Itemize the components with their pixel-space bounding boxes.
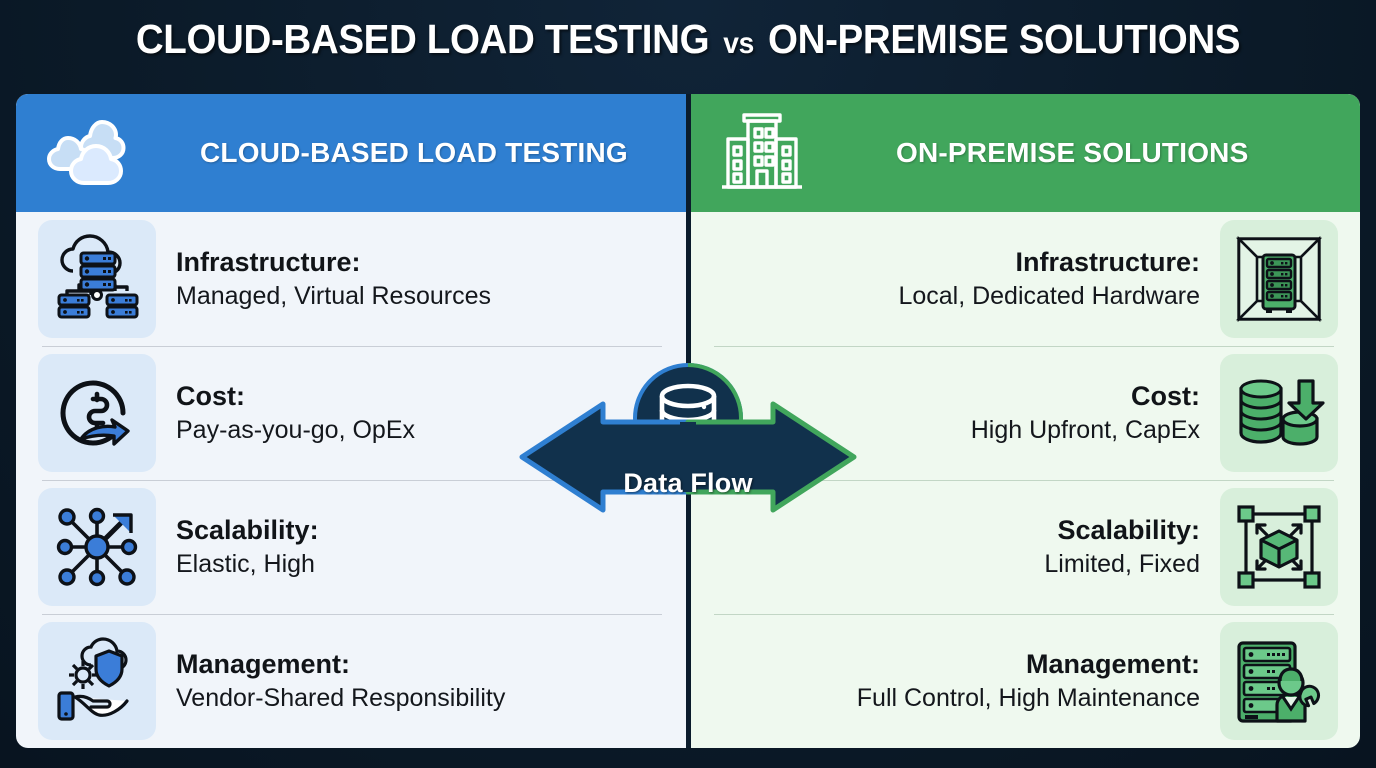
infographic-canvas: CLOUD-BASED LOAD TESTING vs ON-PREMISE S… — [0, 0, 1376, 768]
row-text: Cost: Pay-as-you-go, OpEx — [176, 381, 666, 445]
onprem-panel-title: ON-PREMISE SOLUTIONS — [896, 137, 1248, 169]
row-text: Scalability: Elastic, High — [176, 515, 666, 579]
dollar-circle-arrow-icon — [38, 354, 156, 472]
row-label: Scalability: — [176, 515, 666, 547]
cloud-panel-title: CLOUD-BASED LOAD TESTING — [200, 137, 628, 169]
office-building-icon — [718, 109, 806, 198]
table-row: Scalability: Elastic, High — [30, 480, 674, 614]
row-label: Cost: — [710, 381, 1200, 413]
table-row: Infrastructure: Managed, Virtual Resourc… — [30, 212, 674, 346]
row-value: High Upfront, CapEx — [710, 415, 1200, 445]
cloud-servers-network-icon — [38, 220, 156, 338]
row-value: Limited, Fixed — [710, 549, 1200, 579]
table-row: Cost: High Upfront, CapEx — [702, 346, 1346, 480]
row-label: Cost: — [176, 381, 666, 413]
coin-stack-down-arrow-icon — [1220, 354, 1338, 472]
title-vs: vs — [720, 27, 758, 60]
row-label: Management: — [710, 649, 1200, 681]
onprem-panel-header: ON-PREMISE SOLUTIONS — [688, 94, 1360, 212]
row-text: Management: Vendor-Shared Responsibility — [176, 649, 666, 713]
table-row: Infrastructure: Local, Dedicated Hardwar… — [702, 212, 1346, 346]
cloud-based-panel: CLOUD-BASED LOAD TESTING — [16, 94, 688, 748]
row-label: Scalability: — [710, 515, 1200, 547]
row-label: Management: — [176, 649, 666, 681]
boxed-cube-constraint-icon — [1220, 488, 1338, 606]
panel-divider — [686, 94, 691, 748]
row-text: Management: Full Control, High Maintenan… — [710, 649, 1200, 713]
title-part-one: CLOUD-BASED LOAD TESTING — [136, 16, 709, 62]
table-row: Scalability: Limited, Fixed — [702, 480, 1346, 614]
row-value: Full Control, High Maintenance — [710, 683, 1200, 713]
technician-server-wrench-icon — [1220, 622, 1338, 740]
network-hub-growth-icon — [38, 488, 156, 606]
on-premise-panel: ON-PREMISE SOLUTIONS — [688, 94, 1360, 748]
row-value: Local, Dedicated Hardware — [710, 281, 1200, 311]
cloud-panel-header: CLOUD-BASED LOAD TESTING — [16, 94, 688, 212]
row-text: Cost: High Upfront, CapEx — [710, 381, 1200, 445]
row-label: Infrastructure: — [176, 247, 666, 279]
clouds-icon — [46, 112, 150, 195]
cloud-panel-rows: Infrastructure: Managed, Virtual Resourc… — [16, 212, 688, 748]
table-row: Management: Vendor-Shared Responsibility — [30, 614, 674, 748]
row-value: Elastic, High — [176, 549, 666, 579]
hand-gear-shield-icon — [38, 622, 156, 740]
row-value: Vendor-Shared Responsibility — [176, 683, 666, 713]
title-part-two: ON-PREMISE SOLUTIONS — [768, 16, 1240, 62]
page-title: CLOUD-BASED LOAD TESTING vs ON-PREMISE S… — [41, 16, 1334, 63]
table-row: Cost: Pay-as-you-go, OpEx — [30, 346, 674, 480]
row-text: Scalability: Limited, Fixed — [710, 515, 1200, 579]
row-text: Infrastructure: Local, Dedicated Hardwar… — [710, 247, 1200, 311]
row-text: Infrastructure: Managed, Virtual Resourc… — [176, 247, 666, 311]
server-rack-room-icon — [1220, 220, 1338, 338]
row-label: Infrastructure: — [710, 247, 1200, 279]
table-row: Management: Full Control, High Maintenan… — [702, 614, 1346, 748]
onprem-panel-rows: Infrastructure: Local, Dedicated Hardwar… — [688, 212, 1360, 748]
row-value: Pay-as-you-go, OpEx — [176, 415, 666, 445]
row-value: Managed, Virtual Resources — [176, 281, 666, 311]
